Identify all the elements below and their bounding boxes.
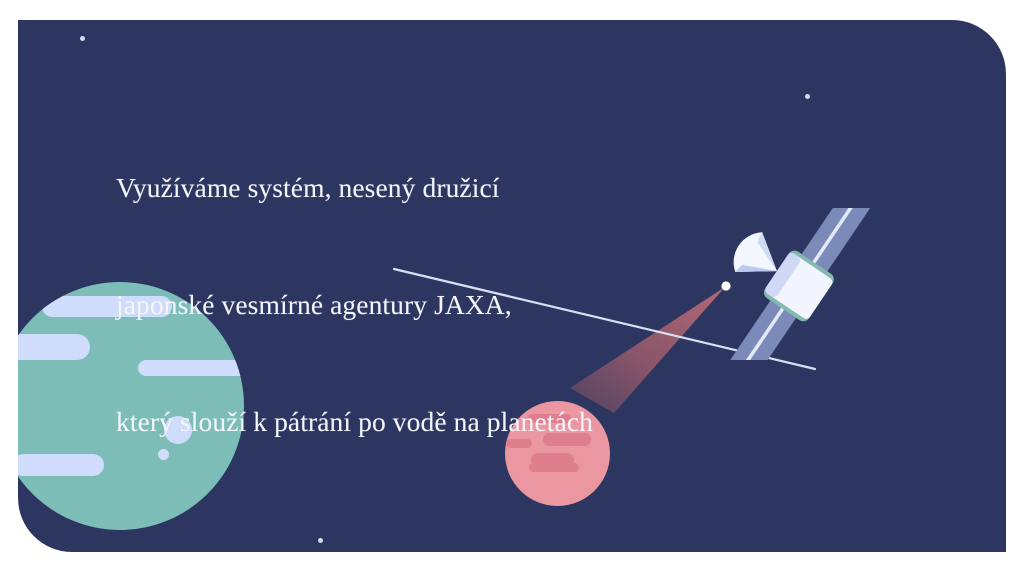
slide-canvas: Využíváme systém, nesený družicí japonsk… [0, 0, 1024, 576]
scan-beam [570, 287, 725, 413]
headline-line-1: Využíváme systém, nesený družicí [116, 168, 593, 207]
page-title: Využíváme systém, nesený družicí japonsk… [116, 90, 593, 519]
star-top-right-icon [805, 94, 810, 99]
star-bottom-icon [318, 538, 323, 543]
headline-line-2: japonské vesmírné agentury JAXA, [116, 285, 593, 324]
star-top-left-icon [80, 36, 85, 41]
headline-line-3: který slouží k pátrání po vodě na planet… [116, 402, 593, 441]
green-planet-cloud-band [18, 334, 90, 360]
space-scene-panel: Využíváme systém, nesený družicí japonsk… [18, 20, 1006, 552]
jaxa-satellite [721, 208, 871, 360]
green-planet-cloud-band [18, 454, 104, 476]
